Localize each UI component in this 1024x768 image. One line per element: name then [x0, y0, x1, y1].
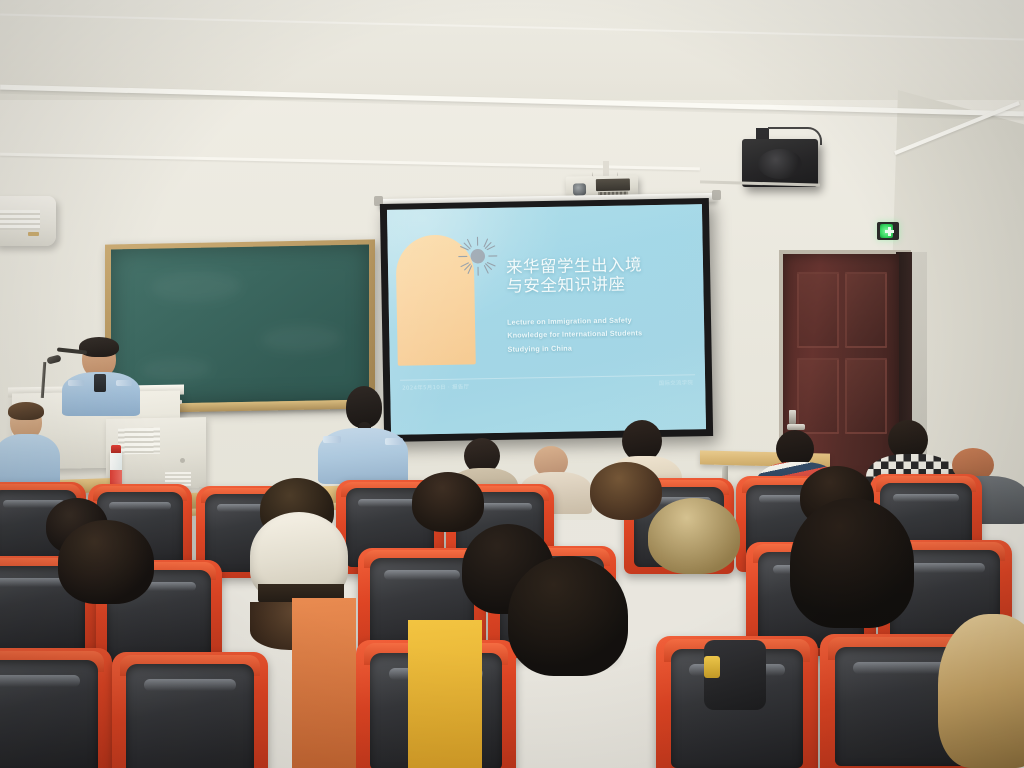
door-lock[interactable] [789, 410, 796, 424]
door-panel-bl [797, 358, 839, 434]
student-yellow-top [408, 620, 482, 768]
student-head-r1-blonde [938, 614, 1024, 768]
lecture-hall-photo: 来华留学生出入境 与安全知识讲座 Lecture on Immigration … [0, 0, 1024, 768]
cabinet-knob [180, 458, 185, 463]
door-panel-tr [845, 272, 887, 348]
projection-screen: 来华留学生出入境 与安全知识讲座 Lecture on Immigration … [380, 198, 713, 442]
student-head-r1-braids-b [790, 498, 914, 628]
screen-bar-cap-right [712, 190, 721, 200]
seat-r1-c1[interactable] [0, 648, 112, 768]
exit-cross-v [888, 227, 891, 236]
projection-screen-surface: 来华留学生出入境 与安全知识讲座 Lecture on Immigration … [387, 204, 706, 435]
presenter-shoulder-board-left [68, 380, 84, 386]
presentation-slide: 来华留学生出入境 与安全知识讲座 Lecture on Immigration … [387, 204, 706, 435]
presenter-shoulder-board-right [116, 380, 132, 386]
seated-officer-epaulette-left [323, 436, 341, 443]
chalkboard-surface [111, 245, 369, 405]
attendee-hair [8, 402, 44, 420]
slide-sheen [387, 204, 706, 435]
water-bottle-cap [111, 445, 121, 453]
student-head-r1-braids-a [508, 556, 628, 676]
student-head-r2-a [58, 520, 154, 604]
student-head-r3-c [412, 472, 484, 532]
seat-r1-c2[interactable] [112, 652, 268, 768]
attendee-torso [0, 434, 60, 488]
exit-sign [877, 222, 899, 240]
water-bottle-label [110, 470, 122, 484]
speaker-cone [758, 149, 802, 179]
door-panel-tl [797, 272, 839, 348]
presenter-collar [94, 374, 106, 392]
air-conditioner-badge [28, 232, 39, 236]
air-conditioner-vent [0, 210, 40, 230]
wall-speaker [742, 139, 818, 187]
projector-lens [573, 183, 586, 195]
seated-officer [318, 386, 410, 482]
front-bottle [704, 656, 720, 678]
student-head-r2-d-blonde [648, 498, 740, 574]
student-orange-top [292, 598, 356, 768]
attendee-far-left-1 [0, 404, 62, 484]
projector-top-panel [596, 179, 630, 192]
student-head-r3-d [590, 462, 662, 520]
exit-sign-glyph [880, 224, 893, 238]
seated-officer-epaulette-right [385, 438, 403, 445]
cabinet-vent-upper [118, 428, 160, 455]
air-conditioner [0, 196, 56, 246]
